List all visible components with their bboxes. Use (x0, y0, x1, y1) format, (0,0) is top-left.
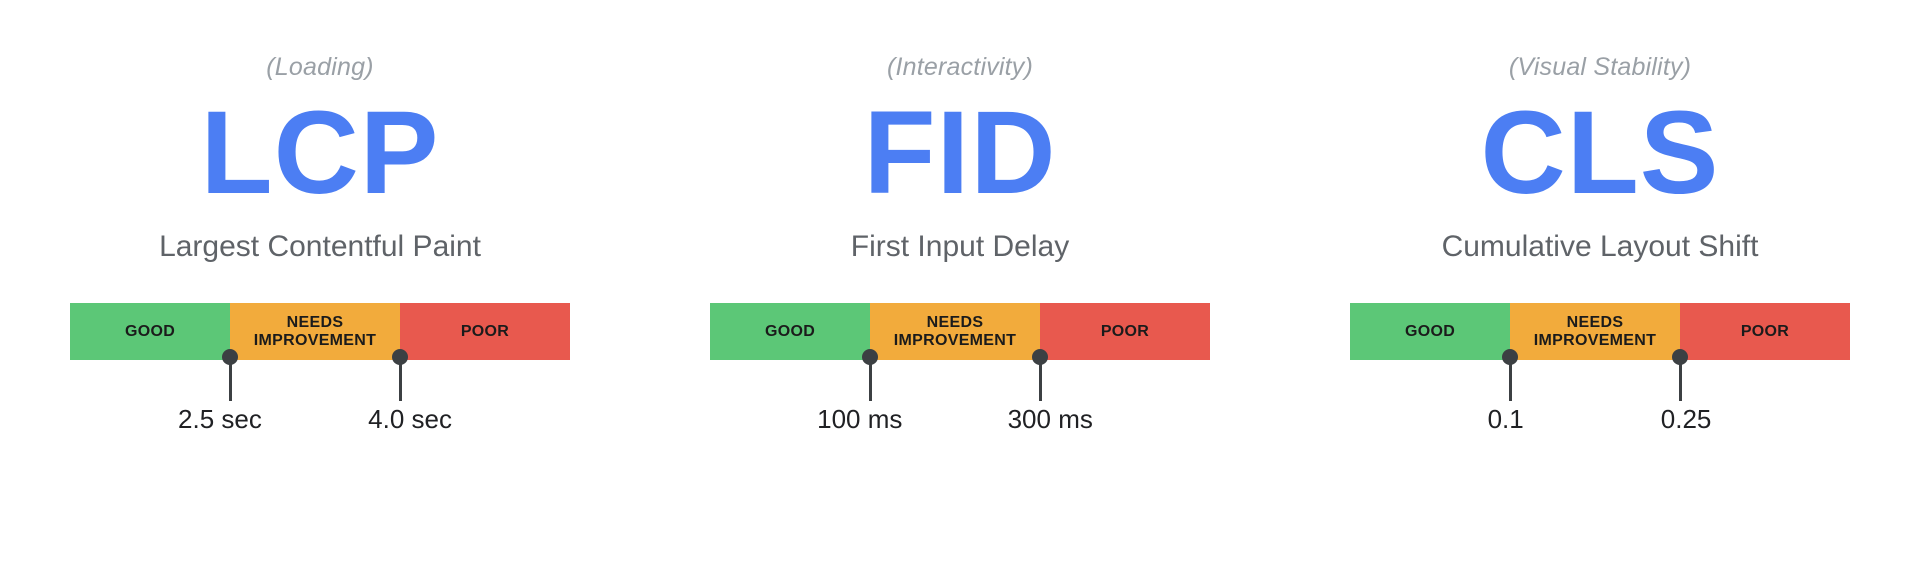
threshold-label-lower-lcp: 2.5 sec (178, 405, 262, 434)
segment-needs-improvement-cls: NEEDS IMPROVEMENT (1510, 303, 1680, 360)
segment-needs-improvement-lcp: NEEDS IMPROVEMENT (230, 303, 400, 360)
segment-label-line1-cls: NEEDS (1567, 314, 1624, 331)
segment-poor-lcp: POOR (400, 303, 570, 360)
core-web-vitals-infographic: (Loading) LCP Largest Contentful Paint G… (0, 0, 1920, 570)
threshold-label-lower-fid: 100 ms (817, 405, 902, 434)
metric-fullname-lcp: Largest Contentful Paint (0, 230, 640, 263)
segment-good-cls: GOOD (1350, 303, 1510, 360)
threshold-label-upper-cls: 0.25 (1661, 405, 1712, 434)
threshold-label-lower-cls: 0.1 (1488, 405, 1524, 434)
segment-good-fid: GOOD (710, 303, 870, 360)
metric-category-cls: (Visual Stability) (1280, 54, 1920, 82)
threshold-label-upper-fid: 300 ms (1008, 405, 1093, 434)
segment-label-needs-improvement-fid: NEEDS IMPROVEMENT (894, 314, 1016, 349)
segment-poor-cls: POOR (1680, 303, 1850, 360)
metric-acronym-lcp: LCP (0, 94, 640, 212)
rating-bar-cls: GOOD NEEDS IMPROVEMENT POOR (1350, 303, 1850, 360)
threshold-stem-lower-fid (869, 357, 872, 401)
metric-category-lcp: (Loading) (0, 54, 640, 82)
metric-fullname-cls: Cumulative Layout Shift (1280, 230, 1920, 263)
metric-category-fid: (Interactivity) (640, 54, 1280, 82)
rating-bar-wrap-lcp: GOOD NEEDS IMPROVEMENT POOR 2.5 sec (0, 303, 640, 503)
segment-needs-improvement-fid: NEEDS IMPROVEMENT (870, 303, 1040, 360)
segment-label-poor-cls: POOR (1741, 323, 1789, 340)
rating-bar-lcp: GOOD NEEDS IMPROVEMENT POOR (70, 303, 570, 360)
threshold-stem-upper-lcp (399, 357, 402, 401)
rating-bar-fid: GOOD NEEDS IMPROVEMENT POOR (710, 303, 1210, 360)
segment-label-poor-lcp: POOR (461, 323, 509, 340)
segment-good-lcp: GOOD (70, 303, 230, 360)
threshold-stem-upper-fid (1039, 357, 1042, 401)
segment-label-needs-improvement-lcp: NEEDS IMPROVEMENT (254, 314, 376, 349)
segment-label-line2-fid: IMPROVEMENT (894, 332, 1016, 349)
segment-label-good-lcp: GOOD (125, 323, 175, 340)
metric-column-fid: (Interactivity) FID First Input Delay GO… (640, 0, 1280, 570)
segment-label-line1-lcp: NEEDS (287, 314, 344, 331)
threshold-stem-lower-lcp (229, 357, 232, 401)
threshold-stem-upper-cls (1679, 357, 1682, 401)
metric-fullname-fid: First Input Delay (640, 230, 1280, 263)
segment-label-poor-fid: POOR (1101, 323, 1149, 340)
segment-poor-fid: POOR (1040, 303, 1210, 360)
metric-acronym-fid: FID (640, 94, 1280, 212)
rating-bar-wrap-cls: GOOD NEEDS IMPROVEMENT POOR 0.1 (1280, 303, 1920, 503)
threshold-label-upper-lcp: 4.0 sec (368, 405, 452, 434)
metric-column-cls: (Visual Stability) CLS Cumulative Layout… (1280, 0, 1920, 570)
segment-label-good-cls: GOOD (1405, 323, 1455, 340)
segment-label-line2-cls: IMPROVEMENT (1534, 332, 1656, 349)
segment-label-line1-fid: NEEDS (927, 314, 984, 331)
threshold-stem-lower-cls (1509, 357, 1512, 401)
metric-column-lcp: (Loading) LCP Largest Contentful Paint G… (0, 0, 640, 570)
rating-bar-wrap-fid: GOOD NEEDS IMPROVEMENT POOR 100 ms (640, 303, 1280, 503)
segment-label-line2-lcp: IMPROVEMENT (254, 332, 376, 349)
metric-acronym-cls: CLS (1280, 94, 1920, 212)
segment-label-needs-improvement-cls: NEEDS IMPROVEMENT (1534, 314, 1656, 349)
segment-label-good-fid: GOOD (765, 323, 815, 340)
